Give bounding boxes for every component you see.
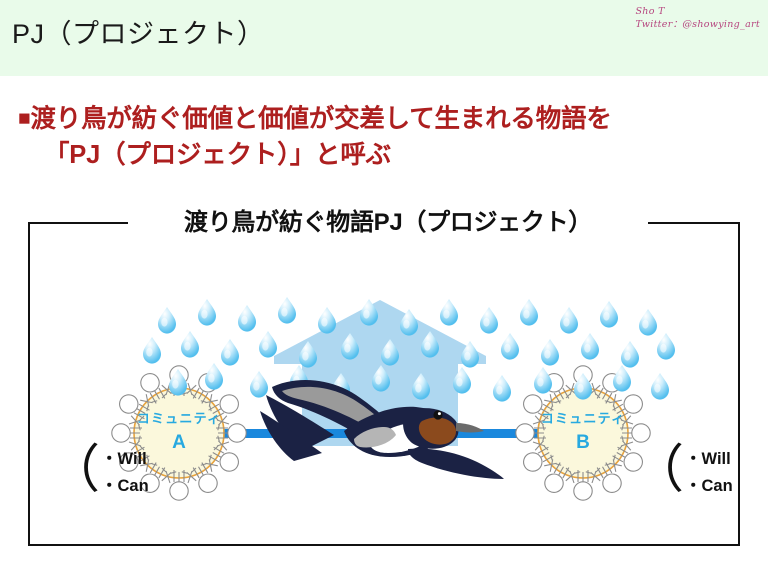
community-a-annotation: （ ・Will ・Can — [48, 446, 149, 500]
community-b-will: ・Will — [685, 446, 733, 473]
swallow-illustration — [258, 365, 506, 481]
swallow-bird-icon — [258, 365, 506, 481]
diagram-title: 渡り鳥が紡ぐ物語PJ（プロジェクト） — [128, 208, 648, 238]
community-b-can: ・Can — [685, 473, 733, 500]
community-a-can: ・Can — [101, 473, 149, 500]
community-b-annotation: （ ・Will ・Can — [632, 446, 733, 500]
community-a-will: ・Will — [101, 446, 149, 473]
